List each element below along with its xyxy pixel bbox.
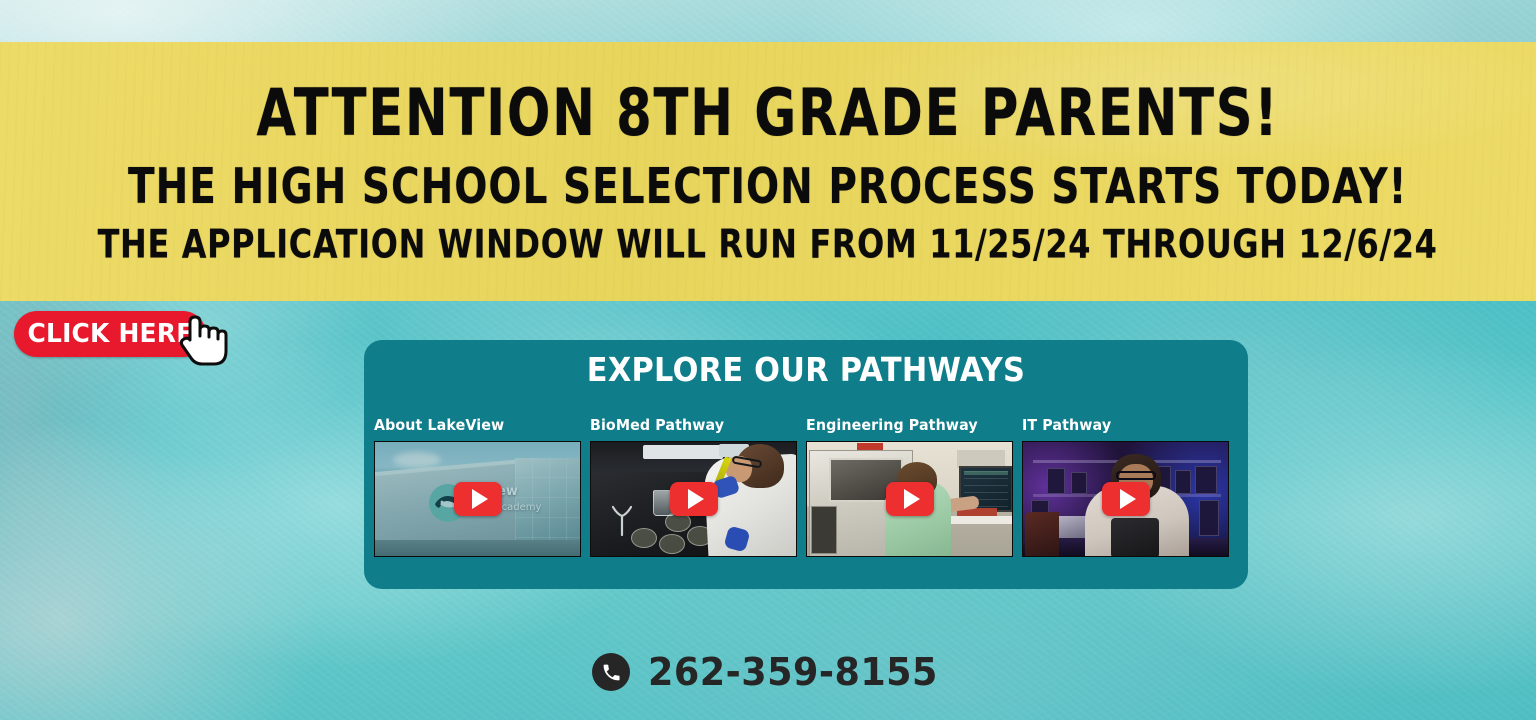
pathway-card-label: Engineering Pathway (806, 416, 1003, 434)
video-thumbnail-about-lakeview[interactable]: ew Academy (374, 441, 581, 557)
youtube-play-icon[interactable] (454, 482, 502, 516)
phone-icon (592, 653, 630, 691)
explore-pathways-panel: EXPLORE OUR PATHWAYS About LakeView ew A… (364, 340, 1248, 589)
lab-tool-icon (609, 504, 635, 538)
youtube-play-icon[interactable] (1102, 482, 1150, 516)
pathway-card-biomed[interactable]: BioMed Pathway (590, 416, 797, 557)
phone-number[interactable]: 262-359-8155 (648, 650, 938, 694)
video-thumbnail-it[interactable] (1022, 441, 1229, 557)
announcement-dates: The application window will run from 11/… (98, 221, 1438, 267)
youtube-play-icon[interactable] (670, 482, 718, 516)
pathway-card-list: About LakeView ew Academy (374, 416, 1238, 557)
pathway-card-engineering[interactable]: Engineering Pathway (806, 416, 1013, 557)
announcement-headline: Attention 8th Grade Parents! (257, 75, 1280, 150)
pathway-card-label: BioMed Pathway (590, 416, 787, 434)
contact-row: 262-359-8155 (0, 650, 1536, 694)
announcement-subhead: The High School Selection Process Starts… (128, 157, 1407, 215)
youtube-play-icon[interactable] (886, 482, 934, 516)
video-thumbnail-engineering[interactable] (806, 441, 1013, 557)
pathway-card-label: IT Pathway (1022, 416, 1219, 434)
panel-title: EXPLORE OUR PATHWAYS (399, 350, 1212, 389)
building-sign-word-2: Academy (495, 502, 541, 513)
announcement-text-block: Attention 8th Grade Parents! The High Sc… (0, 42, 1536, 301)
pathway-card-it[interactable]: IT Pathway (1022, 416, 1229, 557)
video-thumbnail-biomed[interactable] (590, 441, 797, 557)
pathway-card-label: About LakeView (374, 416, 571, 434)
click-here-button[interactable]: CLICK HERE (14, 311, 206, 357)
pathway-card-about-lakeview[interactable]: About LakeView ew Academy (374, 416, 581, 557)
click-here-label: CLICK HERE (27, 319, 193, 349)
flyer-canvas: Attention 8th Grade Parents! The High Sc… (0, 0, 1536, 720)
